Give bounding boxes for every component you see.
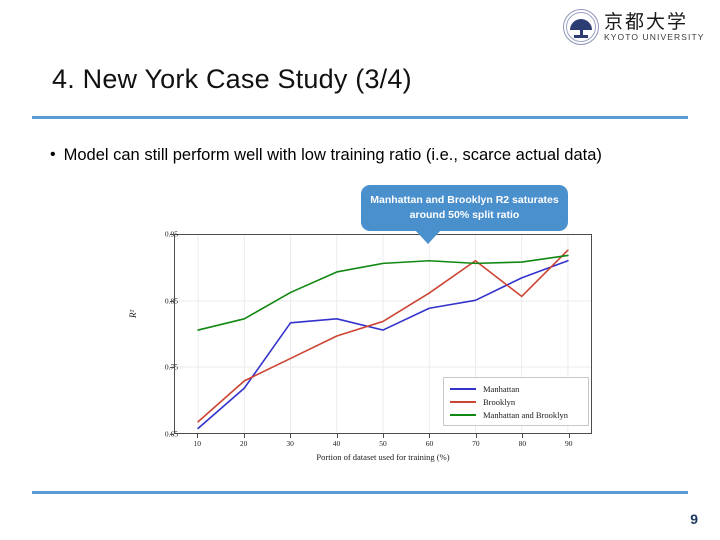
chart-plot-area: ManhattanBrooklynManhattan and Brooklyn	[174, 234, 592, 434]
logo-english-name: KYOTO UNIVERSITY	[604, 32, 705, 43]
legend-label: Brooklyn	[483, 397, 515, 407]
chart-x-tick-label: 50	[379, 439, 387, 448]
chart-x-tick-label: 80	[519, 439, 527, 448]
chart-y-tick-mark	[170, 367, 174, 368]
bullet-list-item: • Model can still perform well with low …	[50, 144, 650, 166]
chart-x-tick-label: 30	[286, 439, 294, 448]
chart-y-tick-mark	[170, 434, 174, 435]
legend-item: Manhattan	[450, 382, 582, 395]
chart-x-tick-mark	[476, 434, 477, 438]
chart-x-tick-mark	[429, 434, 430, 438]
chart-x-tick-label: 60	[426, 439, 434, 448]
legend-color-swatch-icon	[450, 401, 476, 403]
page-number: 9	[690, 511, 698, 527]
chart-x-tick-mark	[383, 434, 384, 438]
chart-x-tick-mark	[522, 434, 523, 438]
chart-y-axis-title: R²	[128, 310, 138, 318]
logo-text-block: 京都大学 KYOTO UNIVERSITY	[604, 12, 705, 43]
chart-x-axis-title: Portion of dataset used for training (%)	[174, 452, 592, 462]
chart-x-tick-mark	[244, 434, 245, 438]
legend-label: Manhattan	[483, 384, 519, 394]
legend-item: Brooklyn	[450, 395, 582, 408]
chart-x-tick-label: 90	[565, 439, 573, 448]
callout-bubble: Manhattan and Brooklyn R2 saturates arou…	[361, 185, 568, 231]
chart-x-tick-label: 40	[333, 439, 341, 448]
chart-y-tick-mark	[170, 301, 174, 302]
seal-base	[574, 35, 588, 38]
footer-divider-bottom	[32, 491, 688, 494]
title-divider-top	[32, 116, 688, 119]
kyoto-university-seal-icon	[563, 9, 599, 45]
callout-tail-icon	[415, 230, 441, 244]
r2-vs-training-ratio-chart: R² ManhattanBrooklynManhattan and Brookl…	[128, 230, 600, 470]
chart-x-tick-label: 10	[193, 439, 201, 448]
logo-japanese-name: 京都大学	[604, 12, 705, 32]
chart-x-tick-label: 20	[240, 439, 248, 448]
bullet-text: Model can still perform well with low tr…	[64, 144, 602, 166]
legend-color-swatch-icon	[450, 414, 476, 416]
legend-label: Manhattan and Brooklyn	[483, 410, 568, 420]
legend-color-swatch-icon	[450, 388, 476, 390]
chart-x-tick-label: 70	[472, 439, 480, 448]
chart-legend: ManhattanBrooklynManhattan and Brooklyn	[443, 377, 589, 426]
chart-x-tick-mark	[197, 434, 198, 438]
chart-y-tick-mark	[170, 234, 174, 235]
legend-item: Manhattan and Brooklyn	[450, 408, 582, 421]
bullet-marker-icon: •	[50, 144, 56, 166]
kyoto-university-logo: 京都大学 KYOTO UNIVERSITY	[563, 6, 713, 48]
chart-x-tick-mark	[290, 434, 291, 438]
page-title: 4. New York Case Study (3/4)	[52, 60, 412, 98]
chart-x-tick-mark	[337, 434, 338, 438]
chart-x-tick-mark	[569, 434, 570, 438]
